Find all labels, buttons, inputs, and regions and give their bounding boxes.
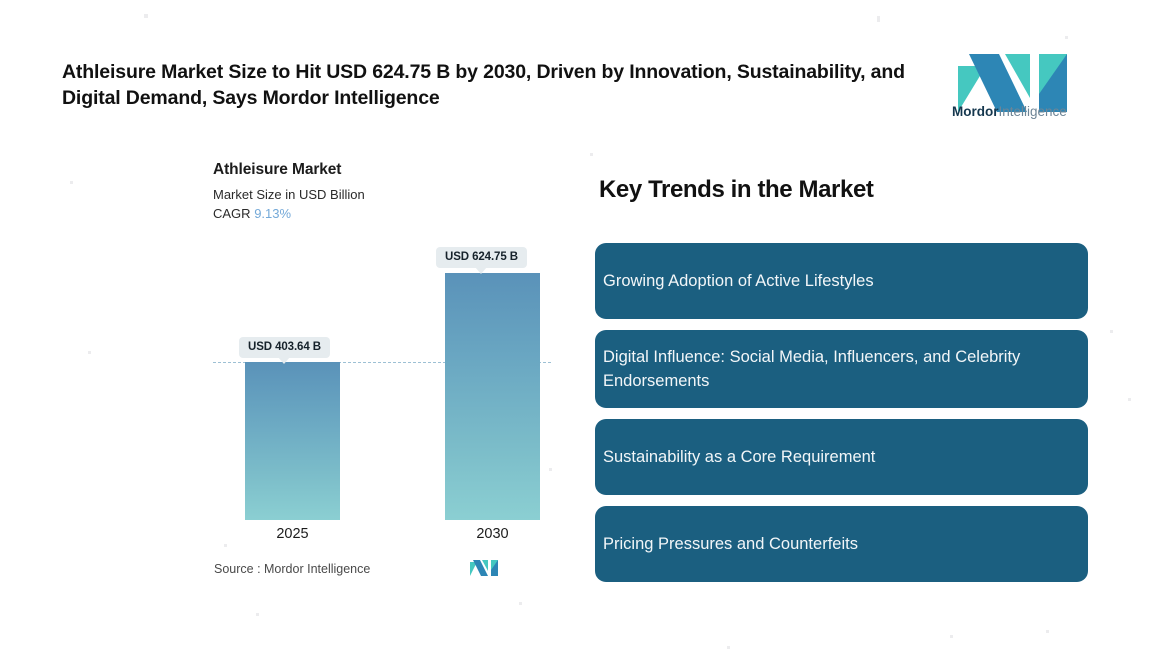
- infographic-page: Athleisure Market Size to Hit USD 624.75…: [0, 0, 1170, 658]
- x-axis-label-2025: 2025: [245, 526, 340, 542]
- page-title: Athleisure Market Size to Hit USD 624.75…: [62, 59, 942, 111]
- cagr-label: CAGR: [213, 206, 251, 221]
- trend-card-1[interactable]: Growing Adoption of Active Lifestyles: [595, 243, 1088, 319]
- trend-card-label: Pricing Pressures and Counterfeits: [603, 532, 858, 556]
- cagr-value: 9.13%: [254, 206, 291, 221]
- background-speck: [70, 181, 73, 184]
- background-speck: [519, 602, 522, 605]
- bar-2030: [445, 273, 540, 520]
- bar-2025: [245, 362, 340, 520]
- chart-title: Athleisure Market: [213, 161, 341, 179]
- mordor-intelligence-mark-icon: [469, 559, 499, 577]
- background-speck: [1046, 630, 1049, 633]
- chart-source-text: Source : Mordor Intelligence: [214, 562, 370, 576]
- trend-card-label: Digital Influence: Social Media, Influen…: [603, 345, 1033, 393]
- bar-value-label-2030: USD 624.75 B: [436, 247, 527, 268]
- brand-wordmark: MordorIntelligence: [952, 104, 1077, 120]
- background-speck: [590, 153, 593, 156]
- background-speck: [256, 613, 259, 616]
- background-speck: [727, 646, 730, 649]
- background-speck: [224, 544, 227, 547]
- background-speck: [1065, 36, 1068, 39]
- background-speck: [877, 16, 880, 22]
- bar-value-label-2025: USD 403.64 B: [239, 337, 330, 358]
- background-speck: [1110, 330, 1113, 333]
- background-speck: [1128, 398, 1131, 401]
- chart-cagr: CAGR 9.13%: [213, 206, 291, 221]
- trend-card-4[interactable]: Pricing Pressures and Counterfeits: [595, 506, 1088, 582]
- bar-chart-plot-area: USD 403.64 B USD 624.75 B 2025 2030: [200, 236, 550, 526]
- background-speck: [144, 14, 148, 18]
- brand-name-light: Intelligence: [999, 104, 1067, 119]
- trend-card-2[interactable]: Digital Influence: Social Media, Influen…: [595, 330, 1088, 408]
- chart-subtitle: Market Size in USD Billion: [213, 187, 365, 202]
- trend-card-label: Sustainability as a Core Requirement: [603, 445, 875, 469]
- background-speck: [88, 351, 91, 354]
- trend-card-label: Growing Adoption of Active Lifestyles: [603, 269, 874, 293]
- x-axis-label-2030: 2030: [445, 526, 540, 542]
- trends-heading: Key Trends in the Market: [599, 176, 874, 204]
- trend-card-list: Growing Adoption of Active Lifestyles Di…: [595, 243, 1088, 593]
- trend-card-3[interactable]: Sustainability as a Core Requirement: [595, 419, 1088, 495]
- brand-name-bold: Mordor: [952, 104, 999, 119]
- background-speck: [950, 635, 953, 638]
